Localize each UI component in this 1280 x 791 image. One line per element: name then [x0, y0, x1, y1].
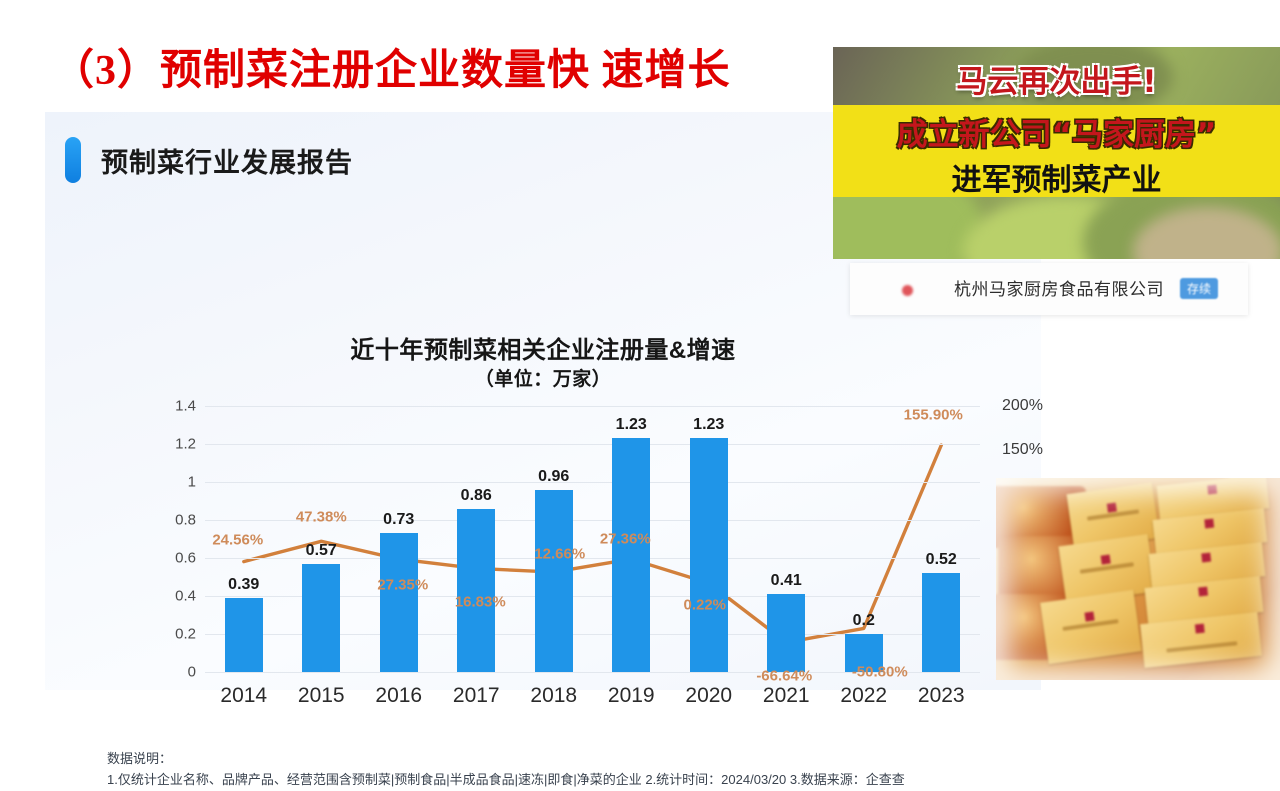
- gridline: [205, 406, 980, 407]
- y-axis-left-tick: 0: [188, 664, 196, 681]
- y-axis-left-tick: 1: [188, 474, 196, 491]
- line-value-label: 27.36%: [600, 531, 651, 548]
- news-line-2: 成立新公司“马家厨房”: [833, 109, 1280, 154]
- footnote: 数据说明： 1.仅统计企业名称、品牌产品、经营范围含预制菜|预制食品|半成品食品…: [107, 748, 1097, 791]
- bar-value-label: 1.23: [693, 416, 724, 434]
- y-axis-left-tick: 0.8: [175, 512, 196, 529]
- x-axis-tick: 2019: [608, 684, 655, 708]
- line-value-label: 155.90%: [904, 407, 963, 424]
- y-axis-right-tick: 200%: [1002, 397, 1043, 415]
- bar: [535, 490, 573, 672]
- bar: [380, 533, 418, 672]
- line-value-label: 47.38%: [296, 509, 347, 526]
- footnote-line-1: 1.仅统计企业名称、品牌产品、经营范围含预制菜|预制食品|半成品食品|速冻|即食…: [107, 769, 1097, 790]
- bar: [922, 573, 960, 672]
- line-value-label: 0.22%: [683, 597, 726, 614]
- gridline: [205, 482, 980, 483]
- news-line-1: 马云再次出手!: [833, 56, 1280, 101]
- y-axis-left-tick: 1.2: [175, 436, 196, 453]
- line-value-label: 16.83%: [455, 594, 506, 611]
- x-axis-tick: 2015: [298, 684, 345, 708]
- accent-bar-icon: [65, 137, 81, 183]
- y-axis-left-tick: 0.4: [175, 588, 196, 605]
- chart-title: 近十年预制菜相关企业注册量&增速: [45, 330, 1041, 365]
- status-badge: 存续: [1180, 278, 1218, 299]
- y-axis-left-tick: 1.4: [175, 398, 196, 415]
- bar-value-label: 0.86: [461, 487, 492, 505]
- chart-plot-area: 00.20.40.60.811.21.4-100%-50%0%50%100%15…: [205, 406, 980, 672]
- x-axis-tick: 2023: [918, 684, 965, 708]
- x-axis-tick: 2016: [375, 684, 422, 708]
- bar-value-label: 0.2: [853, 612, 875, 630]
- y-axis-left-tick: 0.2: [175, 626, 196, 643]
- panel-title: 预制菜行业发展报告: [101, 141, 353, 180]
- bar-value-label: 0.96: [538, 468, 569, 486]
- bar-value-label: 0.57: [306, 542, 337, 560]
- y-axis-left-tick: 0.6: [175, 550, 196, 567]
- company-name: 杭州马家厨房食品有限公司: [954, 275, 1164, 300]
- bar: [612, 438, 650, 672]
- footnote-heading: 数据说明：: [107, 748, 1097, 769]
- bar-value-label: 0.52: [926, 551, 957, 569]
- bar: [457, 509, 495, 672]
- bar-value-label: 0.73: [383, 511, 414, 529]
- line-value-label: 24.56%: [212, 531, 263, 548]
- product-photo: [996, 478, 1280, 680]
- x-axis-tick: 2017: [453, 684, 500, 708]
- line-value-label: -50.80%: [852, 664, 908, 681]
- company-avatar: [902, 285, 913, 296]
- gridline: [205, 444, 980, 445]
- page-title: （3）预制菜注册企业数量快 速增长: [52, 48, 852, 94]
- company-result-card[interactable]: 杭州马家厨房食品有限公司 存续: [850, 263, 1248, 315]
- y-axis-right-tick: 150%: [1002, 441, 1043, 459]
- x-axis-tick: 2021: [763, 684, 810, 708]
- panel-header: 预制菜行业发展报告: [65, 137, 353, 183]
- bar: [225, 598, 263, 672]
- bar: [690, 438, 728, 672]
- line-value-label: 12.66%: [534, 546, 585, 563]
- bar-value-label: 1.23: [616, 416, 647, 434]
- x-axis-tick: 2020: [685, 684, 732, 708]
- bar: [767, 594, 805, 672]
- news-headline-image: 马云再次出手! 成立新公司“马家厨房” 进军预制菜产业: [833, 47, 1280, 259]
- bar-value-label: 0.39: [228, 576, 259, 594]
- line-value-label: 27.35%: [377, 577, 428, 594]
- chart-subtitle: （单位：万家）: [45, 364, 1041, 391]
- x-axis-tick: 2018: [530, 684, 577, 708]
- news-line-3: 进军预制菜产业: [833, 155, 1280, 199]
- bar: [302, 564, 340, 672]
- x-axis-tick: 2014: [220, 684, 267, 708]
- line-value-label: -66.64%: [756, 668, 812, 685]
- x-axis-tick: 2022: [840, 684, 887, 708]
- bar-value-label: 0.41: [771, 572, 802, 590]
